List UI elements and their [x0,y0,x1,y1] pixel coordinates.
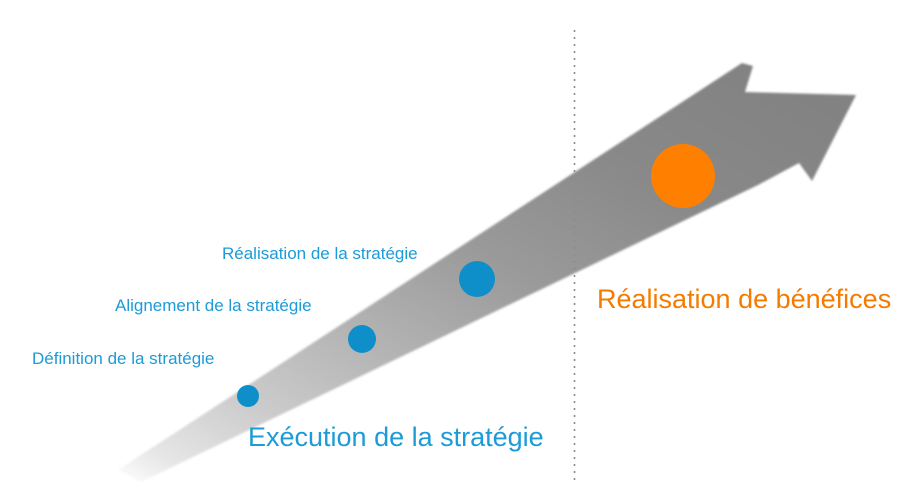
milestone-marker-realisation[interactable] [459,261,495,297]
phase-label-benefices: Réalisation de bénéfices [597,285,891,315]
milestone-label-realisation: Réalisation de la stratégie [222,245,418,264]
milestone-marker-definition[interactable] [237,385,259,407]
phase-label-execution: Exécution de la stratégie [248,423,544,453]
milestone-label-alignement: Alignement de la stratégie [115,297,312,316]
milestone-marker-alignement[interactable] [348,325,376,353]
diagram-canvas: Définition de la stratégie Alignement de… [0,0,921,504]
milestone-label-definition: Définition de la stratégie [32,350,214,369]
milestone-marker-benefices[interactable] [651,144,715,208]
